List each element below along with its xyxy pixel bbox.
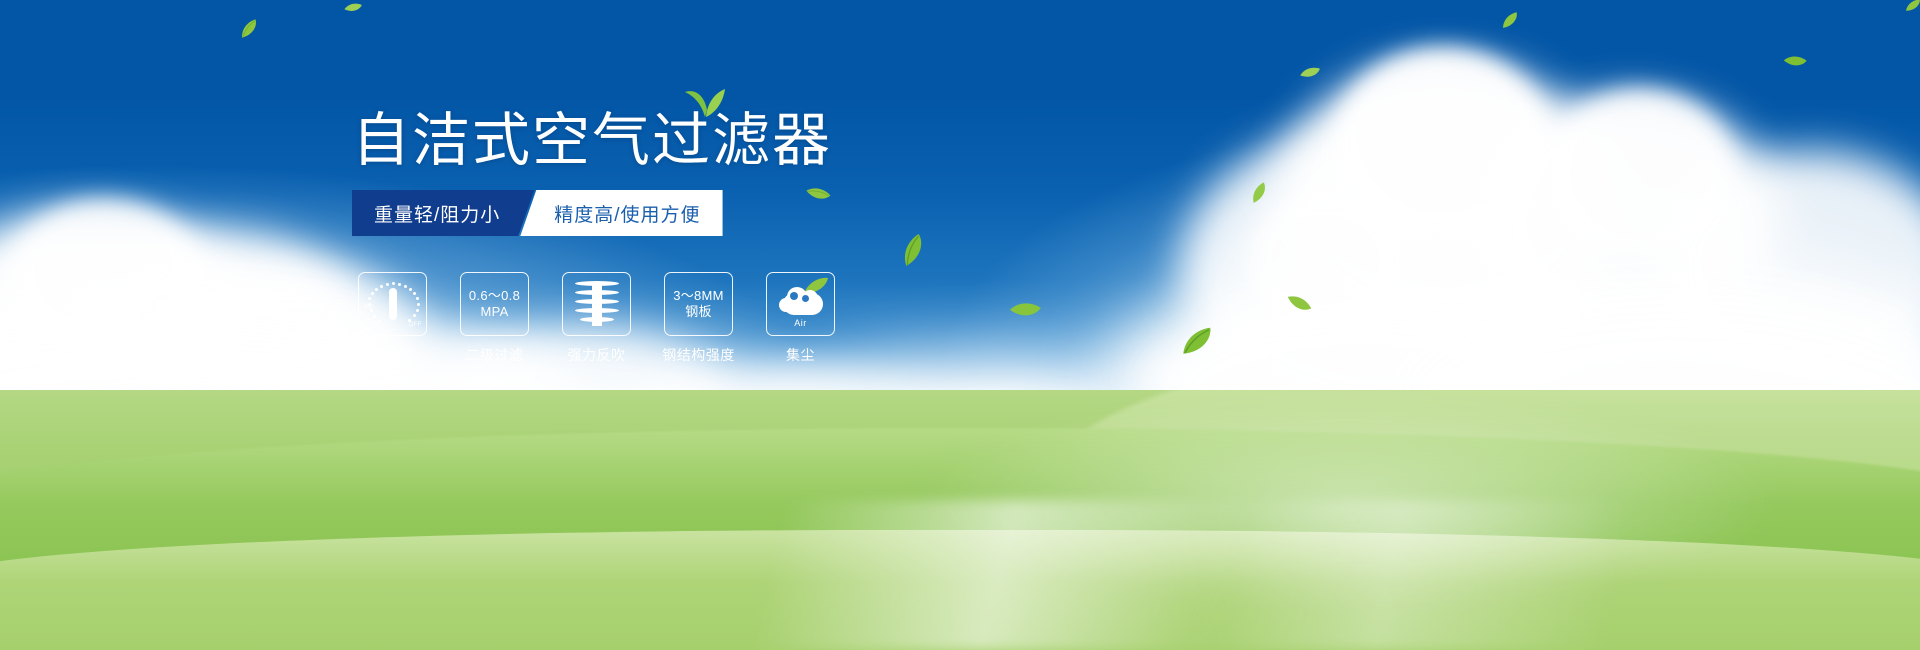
feature-icon-box [562,272,631,336]
filter-stack-icon [575,280,619,328]
feature-item-steel-strength[interactable]: 3～8MM 钢板 钢结构强度 [664,272,733,365]
title-block: 自洁式空气过滤器 [352,112,832,170]
pill-lightweight-lowresistance[interactable]: 重量轻/阻力小 [352,190,534,236]
feature-label: 二级过滤 [466,345,524,365]
gauge-on-label: NO [364,304,374,310]
feature-item-dust-collection[interactable]: Air 集尘 [766,272,835,365]
feature-item-secondary-filtration[interactable]: 0.6～0.8 MPA 二级过滤 [460,272,529,365]
feature-label: 强力反吹 [568,345,626,365]
page-title: 自洁式空气过滤器 [352,112,832,170]
gauge-off-label: OFF [409,322,422,328]
pressure-range-text: 0.6～0.8 [469,288,520,304]
hero-banner: 自洁式空气过滤器 重量轻/阻力小 精度高/使用方便 [0,0,1920,650]
feature-item-strong-backblow[interactable]: 强力反吹 [562,272,631,365]
feature-icon-box: 0.6～0.8 MPA [460,272,529,336]
air-label: Air [775,318,827,328]
steel-plate-text: 钢板 [685,304,712,320]
gauge-dial-icon: NO OFF [365,279,421,329]
feature-label: 集尘 [786,345,815,365]
cloud-air-icon: Air [775,281,827,327]
pill-precision-easyuse[interactable]: 精度高/使用方便 [520,190,722,236]
feature-item-controller[interactable]: NO OFF 控制仪 [358,272,427,365]
subtitle-pills: 重量轻/阻力小 精度高/使用方便 [352,190,723,236]
feature-label: 钢结构强度 [662,345,735,365]
feature-icon-box: NO OFF [358,272,427,336]
steel-thickness-text: 3～8MM [673,288,724,304]
feature-label: 控制仪 [371,345,415,365]
feature-icon-box: 3～8MM 钢板 [664,272,733,336]
banner-content: 自洁式空气过滤器 重量轻/阻力小 精度高/使用方便 [0,0,1920,650]
title-leaf-icon [682,84,728,123]
feature-icon-box: Air [766,272,835,336]
pressure-unit-text: MPA [480,304,508,320]
feature-list: NO OFF 控制仪 0.6～0.8 MPA 二级过滤 [358,272,835,365]
